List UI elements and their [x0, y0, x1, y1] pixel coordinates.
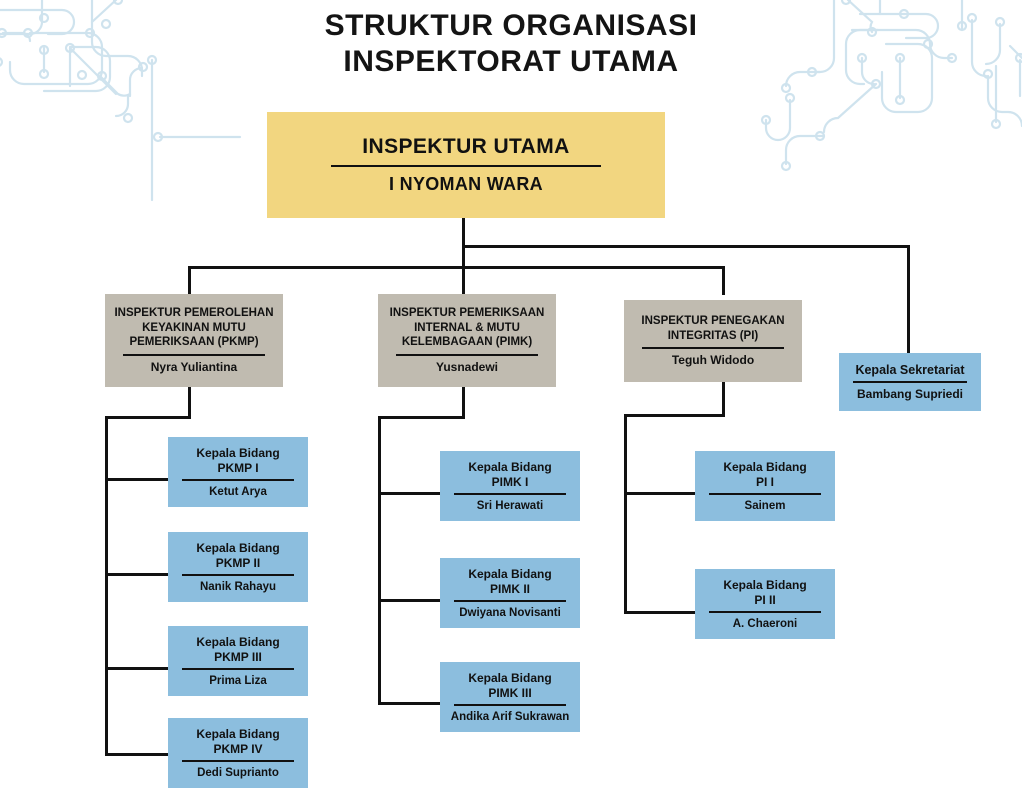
node-role: Kepala Bidang PI I: [695, 460, 835, 490]
connector-pkmp-stub: [188, 387, 191, 418]
node-role: Kepala Bidang PIMK I: [440, 460, 580, 490]
connector-pi-branch-1: [624, 492, 698, 495]
node-role: Kepala Sekretariat: [839, 363, 981, 378]
node-person: Bambang Supriedi: [839, 387, 981, 401]
connector-secretariat-horizontal: [462, 245, 910, 248]
node-role-line: PI I: [695, 475, 835, 490]
node-role-line: INTEGRITAS (PI): [624, 329, 802, 344]
connector-secretariat-vertical: [907, 245, 910, 355]
connector-pkmp-branch-2: [105, 573, 168, 576]
node-person: Teguh Widodo: [624, 353, 802, 368]
node-person: Sri Herawati: [440, 499, 580, 513]
node-role-line: PEMERIKSAAN (PKMP): [105, 335, 283, 350]
node-role-line: PI II: [695, 593, 835, 608]
node-role-line: PKMP II: [168, 556, 308, 571]
node-person: Nyra Yuliantina: [105, 360, 283, 375]
node-role-line: Kepala Bidang: [440, 671, 580, 686]
divider: [182, 668, 294, 670]
page-title: STRUKTUR ORGANISASI INSPEKTORAT UTAMA: [0, 8, 1022, 80]
divider: [182, 760, 294, 762]
node-inspektur-pimk[interactable]: INSPEKTUR PEMERIKSAAN INTERNAL & MUTU KE…: [378, 294, 556, 387]
node-inspektur-utama[interactable]: INSPEKTUR UTAMA I NYOMAN WARA: [267, 112, 665, 218]
node-inspektur-pkmp[interactable]: INSPEKTUR PEMEROLEHAN KEYAKINAN MUTU PEM…: [105, 294, 283, 387]
node-role-line: Kepala Bidang: [695, 578, 835, 593]
node-kepala-sekretariat[interactable]: Kepala Sekretariat Bambang Supriedi: [839, 353, 981, 411]
node-role: Kepala Bidang PI II: [695, 578, 835, 608]
node-kepala-bidang-pkmp-2[interactable]: Kepala Bidang PKMP II Nanik Rahayu: [168, 532, 308, 602]
node-person: Yusnadewi: [378, 360, 556, 375]
node-role: INSPEKTUR UTAMA: [267, 135, 665, 159]
node-role-line: PKMP I: [168, 461, 308, 476]
node-person: I NYOMAN WARA: [267, 173, 665, 195]
node-role-line: Kepala Bidang: [168, 635, 308, 650]
connector-pi-spine: [624, 414, 627, 614]
node-person: A. Chaeroni: [695, 617, 835, 631]
divider: [454, 493, 566, 495]
connector-pimk-branch-2: [378, 599, 442, 602]
node-role: INSPEKTUR PEMEROLEHAN KEYAKINAN MUTU PEM…: [105, 306, 283, 350]
node-role: INSPEKTUR PEMERIKSAAN INTERNAL & MUTU KE…: [378, 306, 556, 350]
node-role-line: Kepala Bidang: [440, 460, 580, 475]
divider: [709, 611, 821, 613]
node-kepala-bidang-pimk-1[interactable]: Kepala Bidang PIMK I Sri Herawati: [440, 451, 580, 521]
connector-pkmp-elbow: [105, 416, 191, 419]
connector-pkmp-branch-1: [105, 478, 168, 481]
node-role: Kepala Bidang PIMK III: [440, 671, 580, 701]
node-role-line: Kepala Bidang: [168, 541, 308, 556]
org-chart-page: STRUKTUR ORGANISASI INSPEKTORAT UTAMA IN…: [0, 0, 1022, 809]
node-kepala-bidang-pi-1[interactable]: Kepala Bidang PI I Sainem: [695, 451, 835, 521]
node-role: INSPEKTUR PENEGAKAN INTEGRITAS (PI): [624, 314, 802, 343]
node-role-line: Kepala Bidang: [440, 567, 580, 582]
node-inspektur-pi[interactable]: INSPEKTUR PENEGAKAN INTEGRITAS (PI) Tegu…: [624, 300, 802, 382]
divider: [182, 574, 294, 576]
divider: [331, 165, 602, 167]
divider: [642, 347, 784, 349]
node-person: Nanik Rahayu: [168, 580, 308, 594]
connector-pkmp-branch-4: [105, 753, 168, 756]
connector-pi-stub: [722, 382, 725, 416]
page-title-line-2: INSPEKTORAT UTAMA: [0, 44, 1022, 80]
divider: [853, 381, 967, 383]
connector-pkmp-branch-3: [105, 667, 168, 670]
node-role-line: INTERNAL & MUTU: [378, 321, 556, 336]
node-role-line: INSPEKTUR PENEGAKAN: [624, 314, 802, 329]
node-kepala-bidang-pimk-2[interactable]: Kepala Bidang PIMK II Dwiyana Novisanti: [440, 558, 580, 628]
node-role: Kepala Bidang PKMP I: [168, 446, 308, 476]
node-kepala-bidang-pkmp-3[interactable]: Kepala Bidang PKMP III Prima Liza: [168, 626, 308, 696]
divider: [182, 479, 294, 481]
node-person: Dedi Suprianto: [168, 766, 308, 780]
node-kepala-bidang-pimk-3[interactable]: Kepala Bidang PIMK III Andika Arif Sukra…: [440, 662, 580, 732]
connector-pi-branch-2: [624, 611, 698, 614]
connector-pi-elbow: [624, 414, 725, 417]
connector-pimk-elbow: [378, 416, 465, 419]
divider: [709, 493, 821, 495]
node-role-line: KELEMBAGAAN (PIMK): [378, 335, 556, 350]
node-role-line: PKMP III: [168, 650, 308, 665]
connector-inspector-1-drop: [188, 266, 191, 295]
node-role-line: PIMK II: [440, 582, 580, 597]
connector-pimk-stub: [462, 387, 465, 418]
node-person: Sainem: [695, 499, 835, 513]
node-kepala-bidang-pkmp-4[interactable]: Kepala Bidang PKMP IV Dedi Suprianto: [168, 718, 308, 788]
node-role: Kepala Bidang PKMP IV: [168, 727, 308, 757]
node-role-line: Kepala Bidang: [695, 460, 835, 475]
connector-trunk-vertical: [462, 218, 465, 268]
node-role-line: Kepala Bidang: [168, 727, 308, 742]
connector-inspector-bus: [188, 266, 725, 269]
connector-inspector-3-drop: [722, 266, 725, 295]
connector-pimk-branch-3: [378, 702, 442, 705]
node-role-line: INSPEKTUR PEMERIKSAAN: [378, 306, 556, 321]
node-role: Kepala Bidang PIMK II: [440, 567, 580, 597]
node-role-line: PIMK I: [440, 475, 580, 490]
node-role-line: INSPEKTUR PEMEROLEHAN: [105, 306, 283, 321]
node-person: Prima Liza: [168, 674, 308, 688]
node-person: Andika Arif Sukrawan: [440, 710, 580, 724]
connector-inspector-2-drop: [462, 266, 465, 295]
node-kepala-bidang-pi-2[interactable]: Kepala Bidang PI II A. Chaeroni: [695, 569, 835, 639]
node-person: Ketut Arya: [168, 485, 308, 499]
node-kepala-bidang-pkmp-1[interactable]: Kepala Bidang PKMP I Ketut Arya: [168, 437, 308, 507]
node-role: Kepala Bidang PKMP II: [168, 541, 308, 571]
connector-pkmp-spine: [105, 416, 108, 756]
divider: [454, 704, 566, 706]
node-role-line: PIMK III: [440, 686, 580, 701]
node-role-line: PKMP IV: [168, 742, 308, 757]
node-role-line: KEYAKINAN MUTU: [105, 321, 283, 336]
page-title-line-1: STRUKTUR ORGANISASI: [0, 8, 1022, 44]
divider: [123, 354, 265, 356]
divider: [396, 354, 538, 356]
divider: [454, 600, 566, 602]
node-role: Kepala Bidang PKMP III: [168, 635, 308, 665]
node-role-line: Kepala Bidang: [168, 446, 308, 461]
connector-pimk-branch-1: [378, 492, 442, 495]
node-person: Dwiyana Novisanti: [440, 606, 580, 620]
connector-pimk-spine: [378, 416, 381, 705]
